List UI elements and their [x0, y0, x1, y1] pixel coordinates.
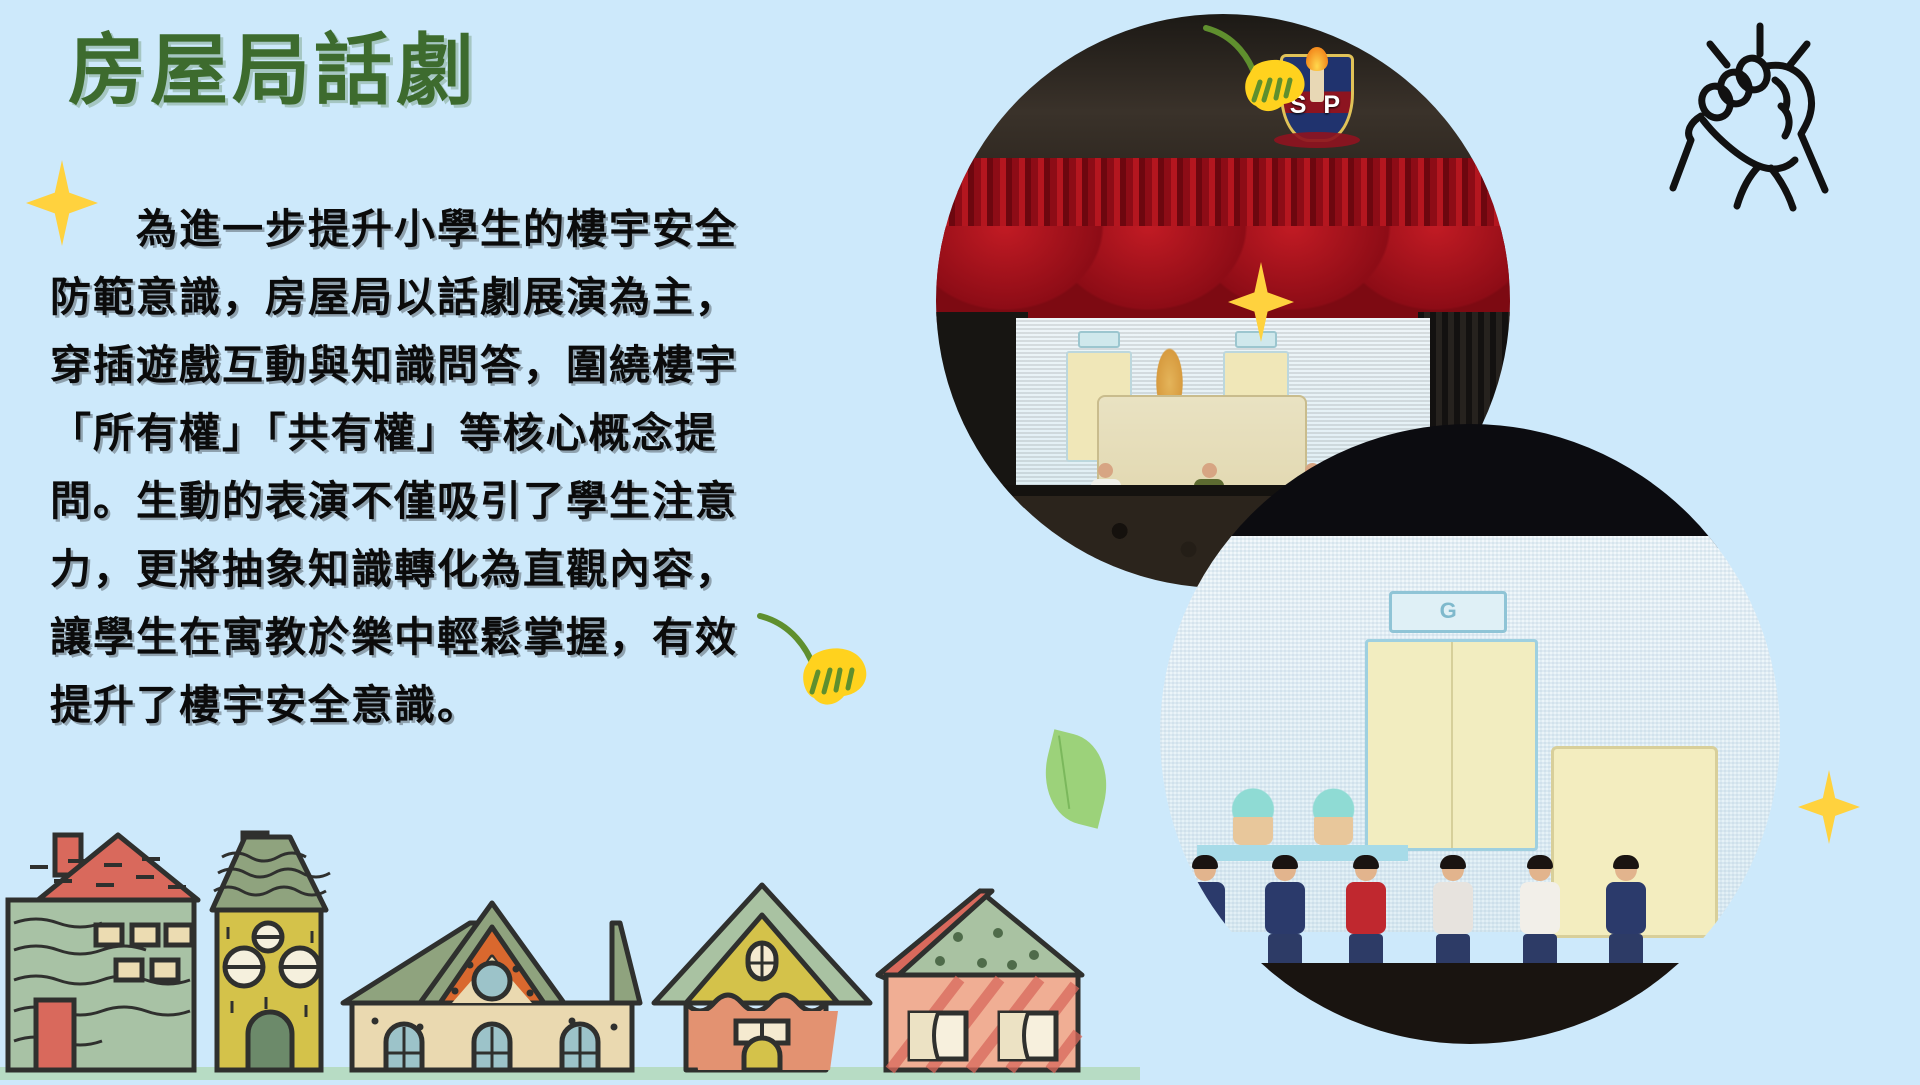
house-4 — [654, 885, 870, 1070]
body-line: 防範意識，房屋局以話劇展演為主， — [50, 263, 910, 331]
stage-floor — [1160, 963, 1780, 1044]
poster-canvas: 房屋局話劇 為進一步提升小學生的樓宇安全 防範意識，房屋局以話劇展演為主， 穿插… — [0, 0, 1920, 1080]
body-line: 力，更將抽象知識轉化為直觀內容， — [50, 535, 910, 603]
body-line: 為進一步提升小學生的樓宇安全 — [50, 195, 910, 263]
body-line: 穿插遊戲互動與知識問答，圍繞樓宇 — [50, 331, 910, 399]
house-1 — [8, 835, 198, 1070]
house-2 — [212, 833, 330, 1070]
elevator-door-graphic — [1365, 639, 1538, 851]
body-line: 問。生動的表演不僅吸引了學生注意 — [50, 467, 910, 535]
stage-wing-left — [936, 312, 1028, 507]
ginkgo-leaf-icon — [752, 606, 882, 724]
students-photo-content: G — [1160, 424, 1780, 1044]
page-title: 房屋局話劇 — [68, 32, 478, 110]
green-leaf-icon — [1034, 729, 1119, 828]
house-3 — [343, 903, 640, 1070]
potted-plant-icon — [1303, 782, 1365, 845]
curtain-swag — [936, 226, 1510, 324]
sparkle-icon — [1798, 770, 1860, 844]
ginkgo-leaf-icon — [1198, 20, 1318, 130]
house-row-illustration — [0, 815, 1140, 1080]
handshake-icon — [1655, 18, 1865, 218]
house-5 — [878, 891, 1082, 1070]
potted-plant-icon — [1222, 782, 1284, 845]
students-on-stage-photo: G — [1160, 424, 1780, 1044]
upper-dark-band — [1160, 424, 1780, 548]
elevator-floor-indicator: G — [1389, 591, 1507, 633]
body-line: 「所有權」「共有權」等核心概念提 — [50, 399, 910, 467]
